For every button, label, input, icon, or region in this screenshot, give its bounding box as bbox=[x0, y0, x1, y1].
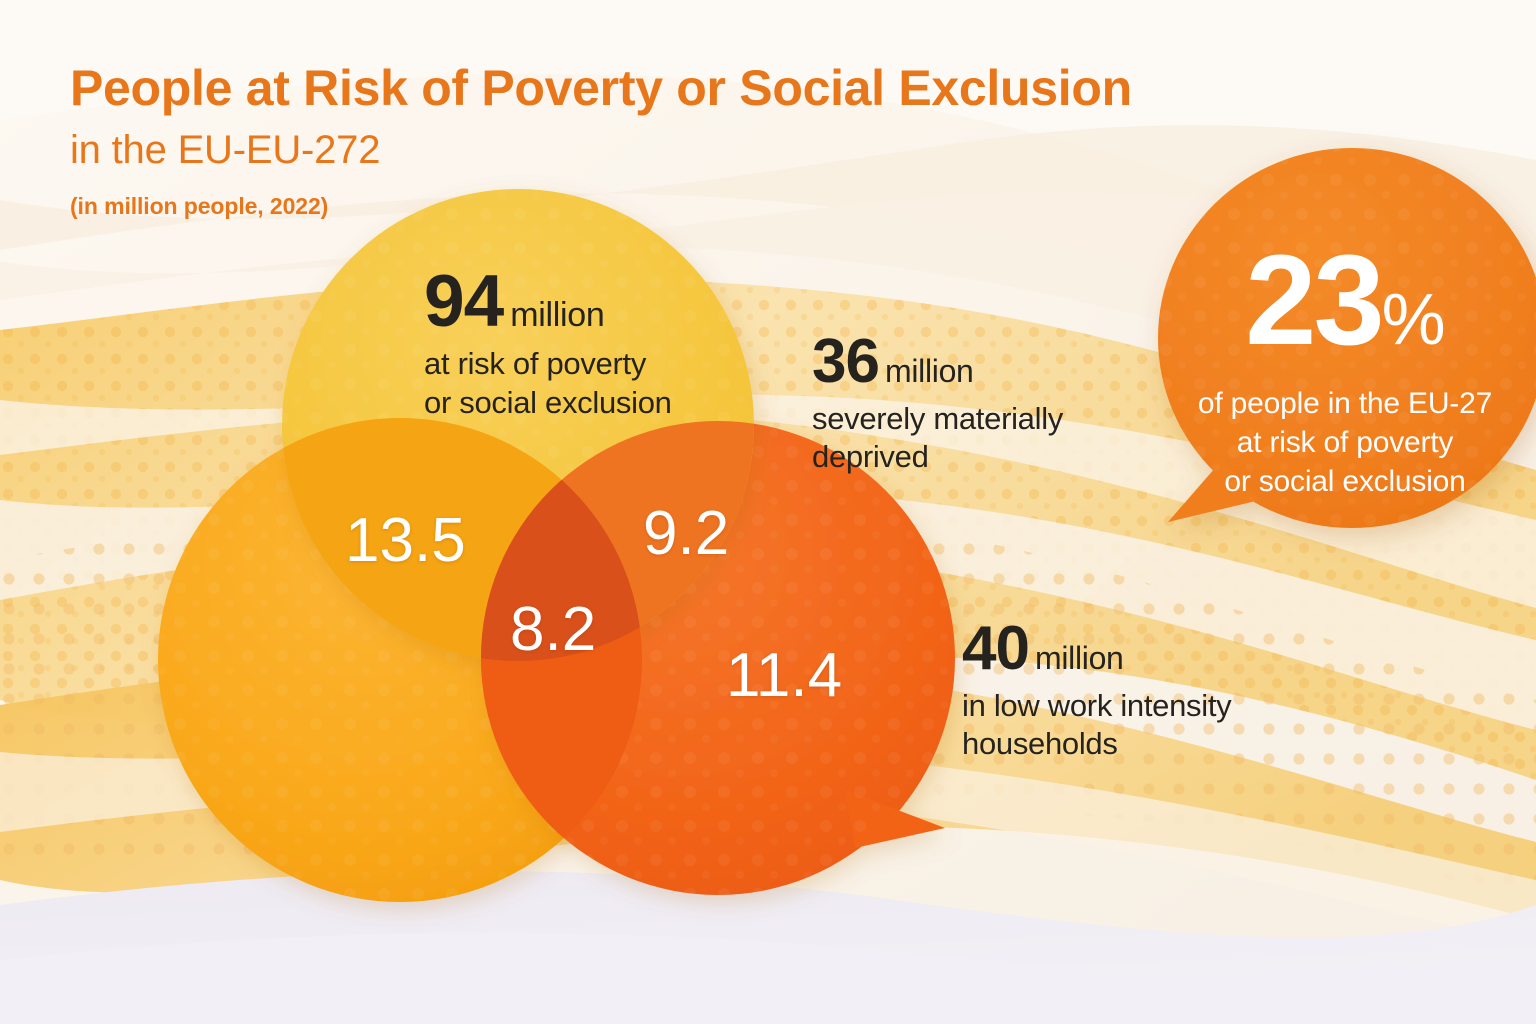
stat-value-36: 36 bbox=[812, 327, 879, 396]
stat-desc-94-line1: at risk of poverty bbox=[424, 345, 714, 383]
stat-desc-40-line1: in low work intensity bbox=[962, 687, 1292, 725]
venn-value-poverty-lowwork: 9.2 bbox=[643, 498, 729, 569]
stat-value-94: 94 bbox=[424, 261, 503, 342]
stat-desc-36-line1: severely materially bbox=[812, 400, 1112, 438]
stat-desc-36: severely materially deprived bbox=[812, 400, 1112, 476]
stat-unit-94: million bbox=[510, 296, 604, 334]
venn-value-all-three: 8.2 bbox=[510, 594, 596, 665]
callout-description-line3: or social exclusion bbox=[1160, 462, 1530, 501]
stat-desc-36-line2: deprived bbox=[812, 438, 1112, 476]
stat-severely-deprived: 36million severely materially deprived bbox=[812, 333, 1112, 476]
callout-percent-value: 23 bbox=[1245, 229, 1381, 372]
stat-at-risk-poverty: 94million at risk of poverty or social e… bbox=[424, 268, 714, 422]
infographic-canvas: People at Risk of Poverty or Social Excl… bbox=[0, 0, 1536, 1024]
callout-description-line2: at risk of poverty bbox=[1160, 423, 1530, 462]
callout-percent-row: 23% bbox=[1160, 240, 1530, 362]
stat-desc-40-line2: households bbox=[962, 725, 1292, 763]
callout-description: of people in the EU-27 at risk of povert… bbox=[1160, 384, 1530, 501]
stat-desc-40: in low work intensity households bbox=[962, 687, 1292, 763]
stat-unit-40: million bbox=[1035, 640, 1124, 676]
venn-value-poverty-deprived: 13.5 bbox=[345, 505, 466, 576]
callout-percent-symbol: % bbox=[1382, 280, 1445, 360]
stat-unit-36: million bbox=[885, 353, 974, 389]
stat-desc-94-line2: or social exclusion bbox=[424, 384, 714, 422]
stat-value-40: 40 bbox=[962, 614, 1029, 683]
callout-content: 23% of people in the EU-27 at risk of po… bbox=[1160, 240, 1530, 501]
stat-low-work-intensity: 40million in low work intensity househol… bbox=[962, 620, 1292, 763]
venn-value-deprived-lowwork: 11.4 bbox=[726, 640, 842, 711]
stat-desc-94: at risk of poverty or social exclusion bbox=[424, 345, 714, 422]
callout-description-line1: of people in the EU-27 bbox=[1160, 384, 1530, 423]
venn-diagram bbox=[0, 0, 1536, 1024]
